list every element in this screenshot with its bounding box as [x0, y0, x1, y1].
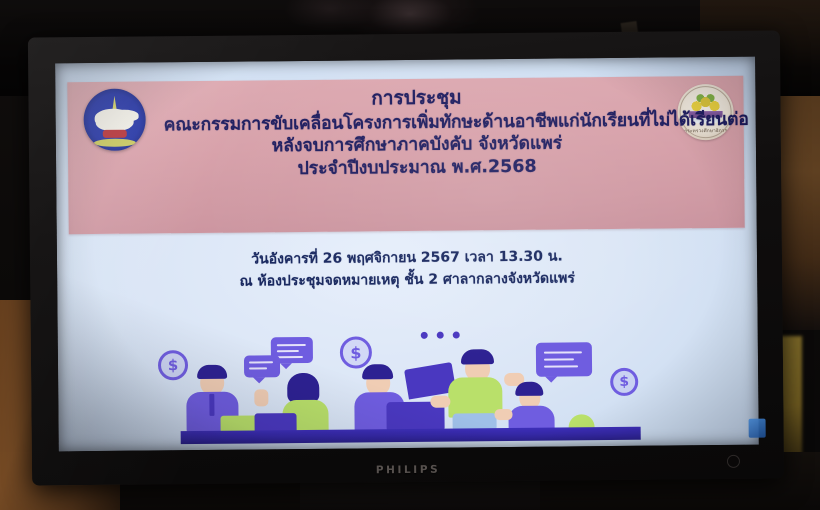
speech-bubble-icon	[244, 355, 280, 377]
person-hair	[461, 349, 494, 364]
philips-brand-logo: PHILIPS	[32, 460, 784, 479]
person-hair	[362, 364, 393, 379]
seal-white-horse-shape	[96, 111, 134, 131]
phrae-province-seal-icon	[83, 88, 146, 151]
person-necktie	[209, 394, 214, 416]
meeting-info-block: วันอังคารที่ 26 พฤศจิกายน 2567 เวลา 13.3…	[57, 245, 757, 295]
bezel-sticker	[749, 419, 766, 438]
person-hand	[494, 409, 512, 420]
person-hair	[197, 365, 227, 379]
dollar-coin-icon: $	[340, 336, 372, 368]
dollar-coin-icon: $	[158, 350, 188, 380]
slide-title-banner: กระทรวงศึกษาธิการ การประชุม คณะกรรมการขั…	[67, 76, 744, 234]
banner-text-block: การประชุม คณะกรรมการขับเคลื่อนโครงการเพิ…	[163, 83, 670, 182]
slide-title: การประชุม	[163, 83, 669, 113]
dollar-coin-icon: $	[610, 368, 638, 396]
speech-bubble-icon	[536, 342, 592, 377]
philips-monitor: กระทรวงศึกษาธิการ การประชุม คณะกรรมการขั…	[28, 30, 784, 485]
typing-dots-icon	[421, 331, 460, 338]
seal-ground-shape	[94, 139, 136, 147]
flat-people-laptops-illustration: $ $ $	[158, 328, 649, 445]
slide-subtitle-line-3: ประจำปีงบประมาณ พ.ศ.2568	[164, 155, 670, 183]
monitor-screen[interactable]: กระทรวงศึกษาธิการ การประชุม คณะกรรมการขั…	[55, 57, 759, 452]
thumbs-up-hand	[254, 389, 268, 406]
presentation-slide: กระทรวงศึกษาธิการ การประชุม คณะกรรมการขั…	[55, 57, 759, 452]
seal-pedestal-shape	[103, 130, 127, 138]
power-button[interactable]	[727, 455, 740, 468]
person-hair	[287, 373, 319, 403]
person-hair	[515, 382, 543, 396]
person-holding-hand	[430, 396, 450, 408]
